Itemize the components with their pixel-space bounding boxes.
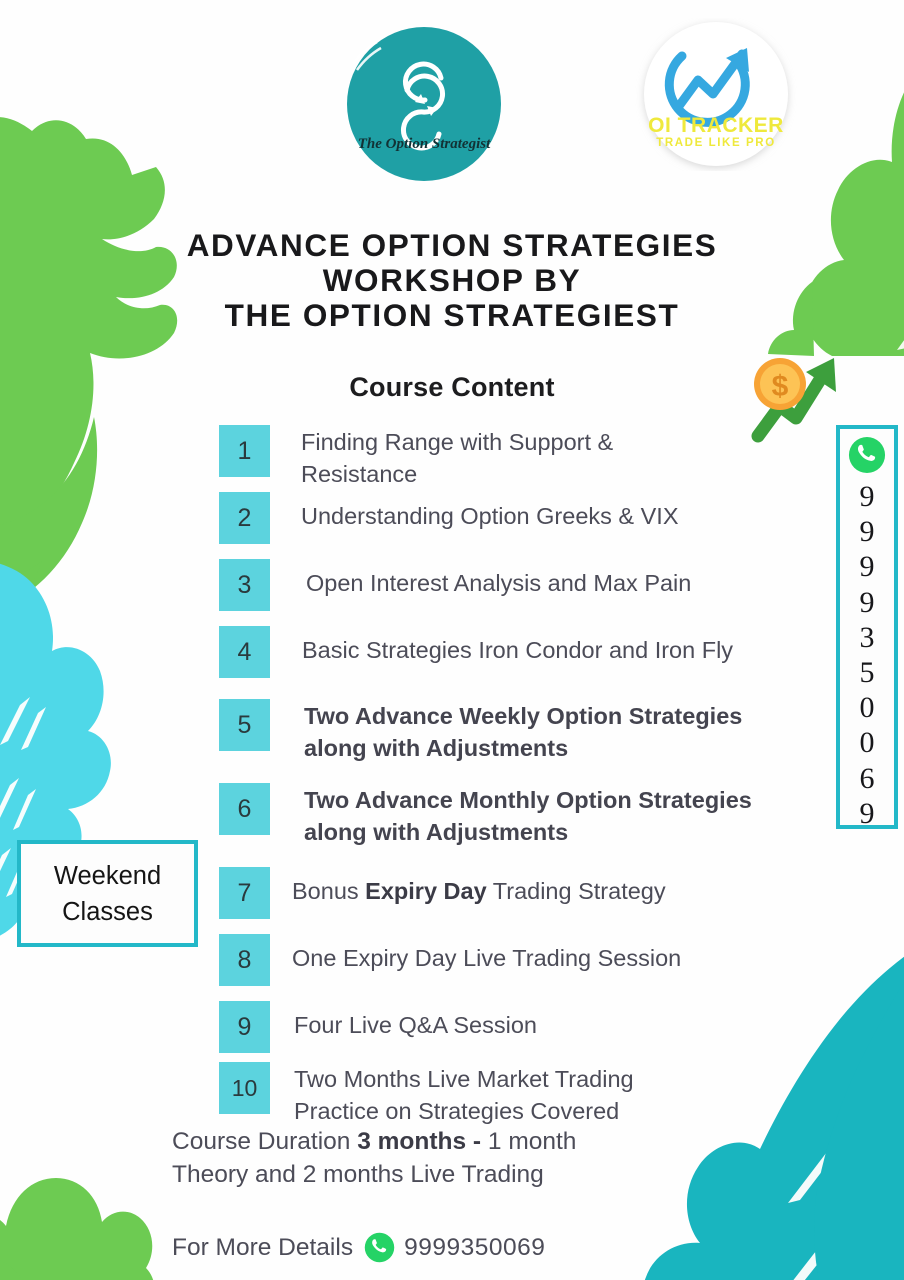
duration-line-2: Theory and 2 months Live Trading	[172, 1161, 544, 1188]
phone-digit: 9	[860, 796, 875, 831]
item-number-badge: 2	[219, 492, 270, 544]
item-number-badge: 10	[219, 1062, 270, 1114]
item-label: One Expiry Day Live Trading Session	[292, 934, 681, 974]
phone-digit: 9	[860, 479, 875, 514]
phone-digit: 9	[860, 549, 875, 584]
item-number-badge: 9	[219, 1001, 270, 1053]
item-number-badge: 3	[219, 559, 270, 611]
teal-brush-right-edge	[810, 900, 904, 1280]
item-number-badge: 4	[219, 626, 270, 678]
item-label: Basic Strategies Iron Condor and Iron Fl…	[302, 626, 733, 666]
list-item: 10 Two Months Live Market Trading Practi…	[219, 1062, 634, 1127]
course-duration-text: Course Duration 3 months - 1 month Theor…	[172, 1125, 732, 1191]
phone-number-vertical: 9 9 9 9 3 5 0 0 6 9	[860, 479, 875, 831]
item-number-badge: 5	[219, 699, 270, 751]
phone-digit: 0	[860, 690, 875, 725]
item-label-emphasis: Expiry Day	[365, 878, 486, 904]
more-details-phone: 9999350069	[404, 1234, 545, 1262]
phone-digit: 3	[860, 620, 875, 655]
duration-prefix: Course Duration	[172, 1128, 357, 1155]
item-label: Open Interest Analysis and Max Pain	[306, 559, 691, 599]
list-item: 6 Two Advance Monthly Option Strategies …	[219, 783, 752, 848]
headline-line-3: THE OPTION STRATEGIEST	[0, 298, 904, 333]
list-item: 5 Two Advance Weekly Option Strategies a…	[219, 699, 742, 764]
weekend-classes-badge: Weekend Classes	[17, 840, 198, 947]
duration-suffix: 1 month	[481, 1128, 576, 1155]
item-label-part: Bonus	[292, 878, 365, 904]
poster-canvas: The Option Strategist OI TRACKER TRADE L…	[0, 0, 904, 1280]
more-details-row[interactable]: For More Details 9999350069	[172, 1232, 545, 1263]
the-option-strategist-logo: The Option Strategist	[343, 24, 506, 187]
coin-growth-arrow-icon: $	[740, 348, 848, 446]
weekend-classes-line-2: Classes	[62, 894, 153, 930]
headline-line-1: ADVANCE OPTION STRATEGIES	[0, 228, 904, 263]
list-item: 7 Bonus Expiry Day Trading Strategy	[219, 867, 666, 919]
item-label-rich: Bonus Expiry Day Trading Strategy	[292, 867, 666, 907]
whatsapp-icon[interactable]	[848, 436, 886, 474]
teal-brush-bottom-right	[590, 935, 904, 1280]
item-label: Two Advance Weekly Option Strategies alo…	[304, 699, 742, 764]
phone-digit: 9	[860, 585, 875, 620]
list-item: 2 Understanding Option Greeks & VIX	[219, 492, 679, 544]
item-label-part: Trading Strategy	[487, 878, 666, 904]
phone-digit: 6	[860, 761, 875, 796]
list-item: 9 Four Live Q&A Session	[219, 1001, 537, 1053]
duration-bold: 3 months -	[357, 1128, 481, 1155]
item-label: Understanding Option Greeks & VIX	[301, 492, 679, 532]
phone-digit: 0	[860, 725, 875, 760]
teal-brush-left	[0, 555, 200, 1075]
list-item: 3 Open Interest Analysis and Max Pain	[219, 559, 691, 611]
phone-digit: 9	[860, 514, 875, 549]
whatsapp-icon[interactable]	[364, 1232, 395, 1263]
item-label: Two Months Live Market Trading Practice …	[294, 1062, 634, 1127]
list-item: 1 Finding Range with Support & Resistanc…	[219, 425, 613, 490]
item-number-badge: 6	[219, 783, 270, 835]
whatsapp-phone-vertical-box[interactable]: 9 9 9 9 3 5 0 0 6 9	[836, 425, 898, 829]
headline-line-2: WORKSHOP BY	[0, 263, 904, 298]
item-label: Four Live Q&A Session	[294, 1001, 537, 1041]
list-item: 8 One Expiry Day Live Trading Session	[219, 934, 681, 986]
option-strategist-wordmark: The Option Strategist	[358, 136, 491, 152]
more-details-label: For More Details	[172, 1234, 353, 1262]
item-label: Two Advance Monthly Option Strategies al…	[304, 783, 752, 848]
phone-digit: 5	[860, 655, 875, 690]
list-item: 4 Basic Strategies Iron Condor and Iron …	[219, 626, 733, 678]
item-number-badge: 8	[219, 934, 270, 986]
item-number-badge: 7	[219, 867, 270, 919]
poster-headline: ADVANCE OPTION STRATEGIES WORKSHOP BY TH…	[0, 228, 904, 333]
item-number-badge: 1	[219, 425, 270, 477]
green-brush-bottom-left	[0, 1130, 170, 1280]
green-brush-top-left	[0, 95, 230, 715]
oi-tracker-title: OI TRACKER	[648, 114, 784, 137]
svg-text:$: $	[772, 370, 789, 403]
oi-tracker-logo: OI TRACKER TRADE LIKE PRO	[630, 18, 802, 171]
weekend-classes-line-1: Weekend	[54, 858, 161, 894]
item-label: Finding Range with Support & Resistance	[301, 425, 613, 490]
oi-tracker-tagline: TRADE LIKE PRO	[656, 137, 776, 149]
